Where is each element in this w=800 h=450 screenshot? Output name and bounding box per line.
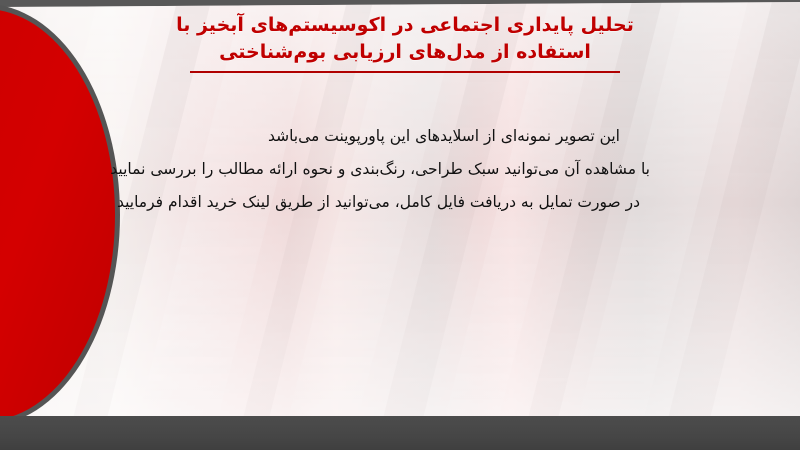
body-line-1: این تصویر نمونه‌ای از اسلایدهای این پاور…: [120, 120, 650, 153]
slide-body-text: این تصویر نمونه‌ای از اسلایدهای این پاور…: [120, 120, 650, 219]
body-line-2: با مشاهده آن می‌توانید سبک طراحی، رنگ‌بن…: [120, 153, 650, 186]
bottom-dark-band: [0, 416, 800, 450]
body-line-3: در صورت تمایل به دریافت فایل کامل، می‌تو…: [120, 186, 650, 219]
title-line-2: استفاده از مدل‌های ارزیابی بوم‌شناختی: [105, 39, 705, 66]
title-underline-rule: [190, 71, 620, 73]
title-line-1: تحلیل پایداری اجتماعی در اکوسیستم‌های آب…: [105, 12, 705, 39]
lens-fill: [0, 9, 115, 421]
presentation-slide: تحلیل پایداری اجتماعی در اکوسیستم‌های آب…: [0, 0, 800, 450]
slide-title: تحلیل پایداری اجتماعی در اکوسیستم‌های آب…: [105, 12, 705, 73]
left-red-lens-decoration: [0, 4, 120, 426]
